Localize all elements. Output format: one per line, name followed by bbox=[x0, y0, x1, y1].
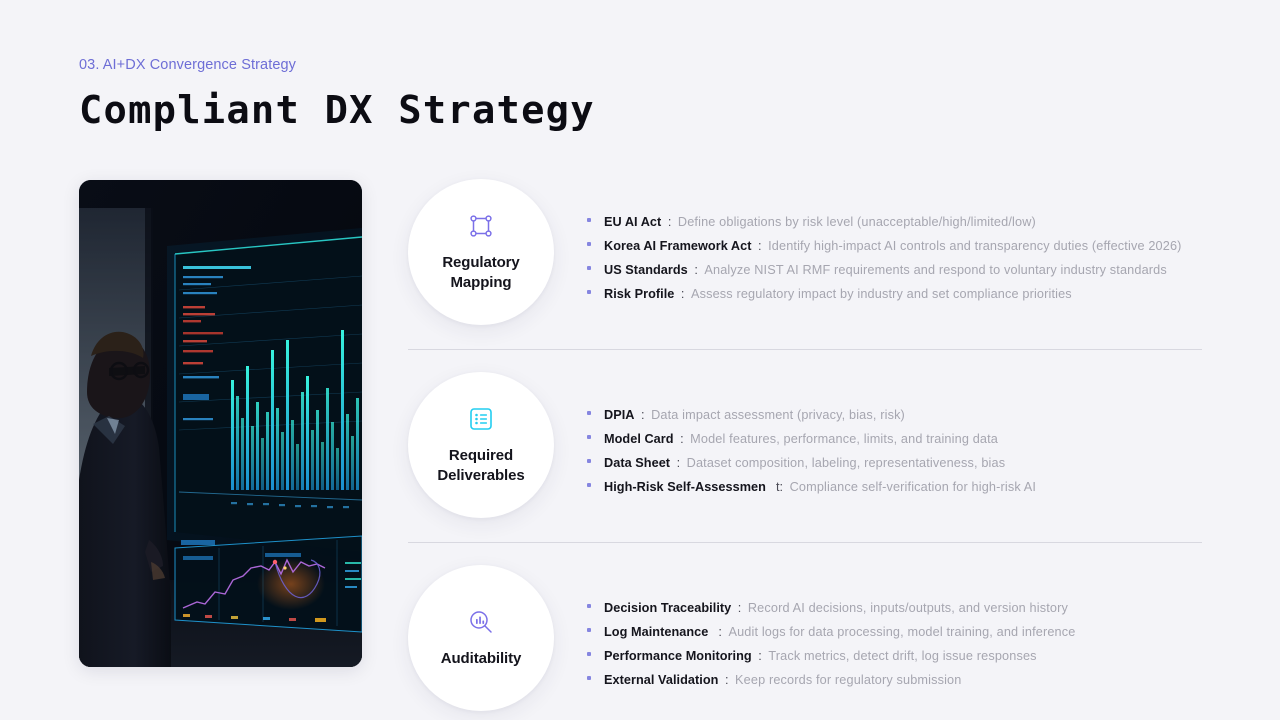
bullet-separator: : bbox=[731, 596, 748, 620]
bullet-term: Data Sheet bbox=[604, 451, 670, 475]
hero-photo bbox=[79, 180, 362, 667]
list-item: US Standards : Analyze NIST AI RMF requi… bbox=[587, 258, 1202, 282]
list-item: EU AI Act : Define obligations by risk l… bbox=[587, 210, 1202, 234]
bullet-separator: : bbox=[718, 668, 735, 692]
list-item: External Validation : Keep records for r… bbox=[587, 668, 1202, 692]
content-row-required-deliverables: Required Deliverables DPIA : Data impact… bbox=[408, 372, 1202, 520]
bullet-term: US Standards bbox=[604, 258, 688, 282]
frame-nodes-icon bbox=[466, 211, 496, 241]
badge-label-line-2: Mapping bbox=[451, 274, 512, 291]
bullet-term: Performance Monitoring bbox=[604, 644, 752, 668]
bullet-dot-icon bbox=[587, 411, 591, 415]
bullet-dot-icon bbox=[587, 628, 591, 632]
bullet-description: Record AI decisions, inputs/outputs, and… bbox=[748, 596, 1068, 620]
list-item: Performance Monitoring : Track metrics, … bbox=[587, 644, 1202, 668]
bullet-term: EU AI Act bbox=[604, 210, 661, 234]
content-row-regulatory-mapping: Regulatory Mapping EU AI Act : Define ob… bbox=[408, 179, 1202, 327]
bullet-separator: : bbox=[688, 258, 705, 282]
bullet-description: Dataset composition, labeling, represent… bbox=[687, 451, 1006, 475]
badge-label-line-1: Required bbox=[449, 447, 513, 464]
list-item: Korea AI Framework Act : Identify high-i… bbox=[587, 234, 1202, 258]
row-spacer bbox=[408, 520, 1202, 542]
list-item: Log Maintenance : Audit logs for data pr… bbox=[587, 620, 1202, 644]
list-item: Data Sheet : Dataset composition, labeli… bbox=[587, 451, 1202, 475]
badge-regulatory-mapping[interactable]: Regulatory Mapping bbox=[408, 179, 554, 325]
bullet-dot-icon bbox=[587, 652, 591, 656]
bullet-description: Keep records for regulatory submission bbox=[735, 668, 961, 692]
bullet-dot-icon bbox=[587, 290, 591, 294]
bullet-dot-icon bbox=[587, 459, 591, 463]
content-column: Regulatory Mapping EU AI Act : Define ob… bbox=[408, 179, 1202, 713]
badge-label-required-deliverables: Required Deliverables bbox=[437, 446, 524, 486]
list-item: Risk Profile : Assess regulatory impact … bbox=[587, 282, 1202, 306]
row-spacer bbox=[408, 327, 1202, 349]
bullet-description: Model features, performance, limits, and… bbox=[690, 427, 998, 451]
list-item: DPIA : Data impact assessment (privacy, … bbox=[587, 403, 1202, 427]
magnifier-chart-icon bbox=[466, 607, 496, 637]
section-eyebrow: 03. AI+DX Convergence Strategy bbox=[79, 55, 1199, 75]
list-view-icon bbox=[466, 404, 496, 434]
badge-label-line-1: Auditability bbox=[441, 650, 521, 667]
badge-label-auditability: Auditability bbox=[441, 649, 521, 669]
bullet-dot-icon bbox=[587, 242, 591, 246]
bullet-description: Compliance self-verification for high-ri… bbox=[790, 475, 1037, 499]
bullet-term: Risk Profile bbox=[604, 282, 674, 306]
photo-analytics-dashboard-icon bbox=[79, 180, 362, 667]
section-divider-1 bbox=[408, 349, 1202, 350]
list-item: Model Card : Model features, performance… bbox=[587, 427, 1202, 451]
content-row-auditability: Auditability Decision Traceability : Rec… bbox=[408, 565, 1202, 713]
bullet-term: Decision Traceability bbox=[604, 596, 731, 620]
bullet-dot-icon bbox=[587, 676, 591, 680]
badge-label-regulatory-mapping: Regulatory Mapping bbox=[442, 253, 519, 293]
bullet-separator: : bbox=[674, 282, 691, 306]
badge-label-line-2: Deliverables bbox=[437, 467, 524, 484]
bullet-term: Korea AI Framework Act bbox=[604, 234, 752, 258]
bullet-separator: : bbox=[674, 427, 691, 451]
bullet-description: Data impact assessment (privacy, bias, r… bbox=[651, 403, 905, 427]
bullet-dot-icon bbox=[587, 435, 591, 439]
bullet-description: Analyze NIST AI RMF requirements and res… bbox=[704, 258, 1167, 282]
bullet-list-required-deliverables: DPIA : Data impact assessment (privacy, … bbox=[554, 372, 1202, 499]
bullet-dot-icon bbox=[587, 218, 591, 222]
slide-header: 03. AI+DX Convergence Strategy Compliant… bbox=[79, 55, 1199, 132]
bullet-description: Identify high-impact AI controls and tra… bbox=[768, 234, 1181, 258]
bullet-description: Audit logs for data processing, model tr… bbox=[728, 620, 1075, 644]
bullet-separator: : bbox=[635, 403, 652, 427]
bullet-description: Assess regulatory impact by industry and… bbox=[691, 282, 1072, 306]
bullet-dot-icon bbox=[587, 604, 591, 608]
badge-auditability[interactable]: Auditability bbox=[408, 565, 554, 711]
badge-required-deliverables[interactable]: Required Deliverables bbox=[408, 372, 554, 518]
section-divider-2 bbox=[408, 542, 1202, 543]
bullet-term: High-Risk Self-Assessmen bbox=[604, 475, 766, 499]
bullet-list-auditability: Decision Traceability : Record AI decisi… bbox=[554, 565, 1202, 692]
bullet-term: Model Card bbox=[604, 427, 674, 451]
bullet-separator: : bbox=[670, 451, 687, 475]
bullet-term: External Validation bbox=[604, 668, 718, 692]
page-title: Compliant DX Strategy bbox=[79, 88, 1221, 132]
bullet-term: DPIA bbox=[604, 403, 635, 427]
badge-label-line-1: Regulatory bbox=[442, 254, 519, 271]
bullet-description: Track metrics, detect drift, log issue r… bbox=[768, 644, 1036, 668]
bullet-dot-icon bbox=[587, 483, 591, 487]
bullet-dot-icon bbox=[587, 266, 591, 270]
bullet-term: Log Maintenance bbox=[604, 620, 708, 644]
list-item: High-Risk Self-Assessmen t: Compliance s… bbox=[587, 475, 1202, 499]
bullet-separator: : bbox=[661, 210, 678, 234]
bullet-description: Define obligations by risk level (unacce… bbox=[678, 210, 1036, 234]
bullet-separator: t: bbox=[766, 475, 790, 499]
bullet-separator: : bbox=[708, 620, 728, 644]
bullet-separator: : bbox=[752, 234, 769, 258]
bullet-list-regulatory-mapping: EU AI Act : Define obligations by risk l… bbox=[554, 179, 1202, 306]
list-item: Decision Traceability : Record AI decisi… bbox=[587, 596, 1202, 620]
bullet-separator: : bbox=[752, 644, 769, 668]
